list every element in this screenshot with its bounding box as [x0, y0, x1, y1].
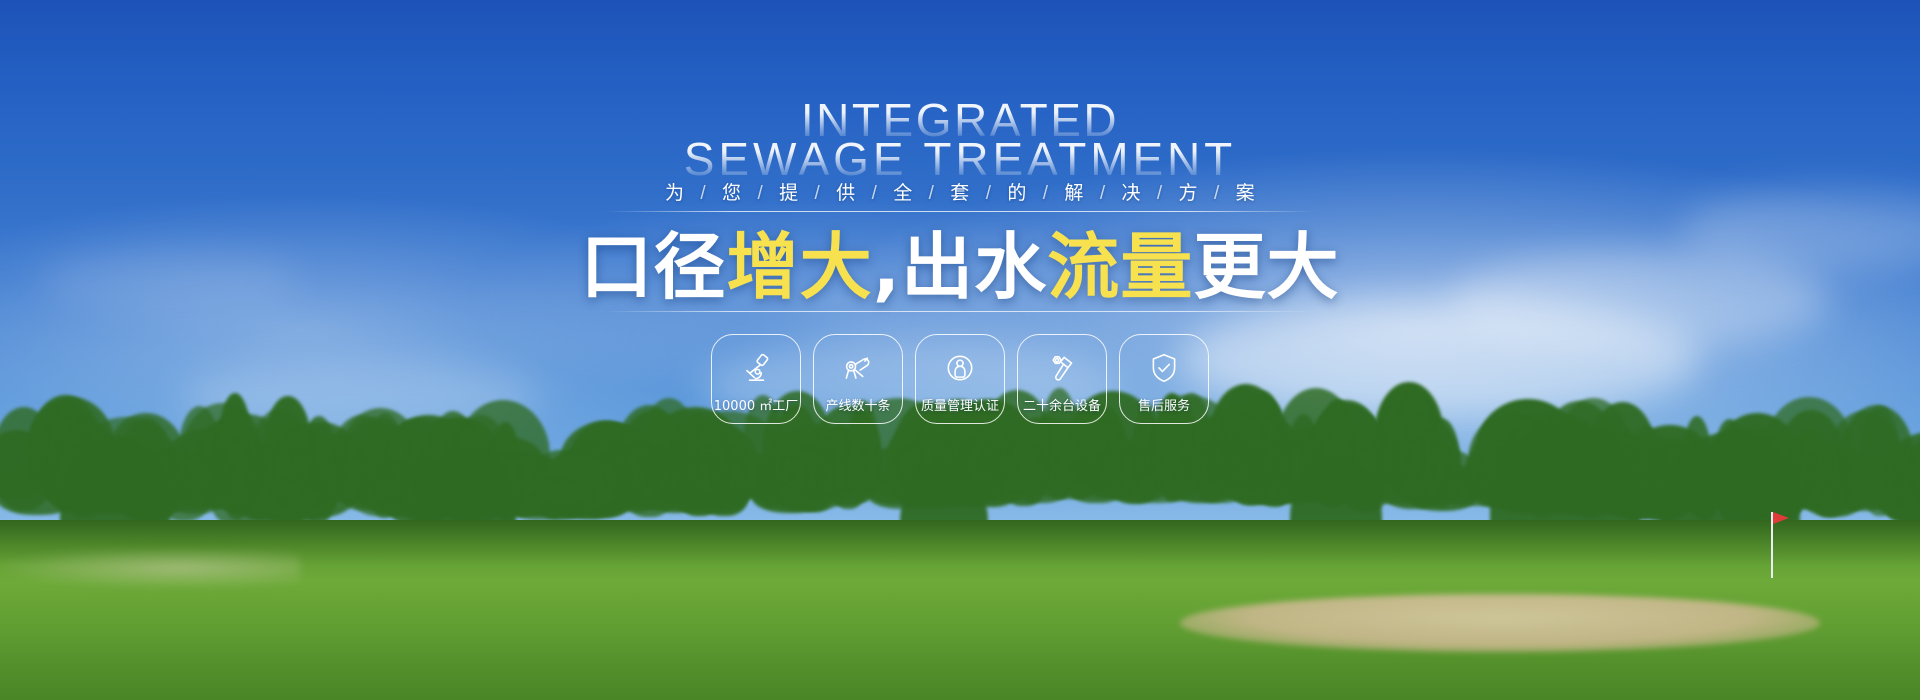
microscope-icon: [739, 351, 773, 385]
divider-bottom: [605, 311, 1315, 312]
feature-badge[interactable]: 质量管理认证: [915, 334, 1005, 424]
shield-check-icon: [1147, 351, 1181, 385]
headline-segment: 增大: [727, 228, 873, 306]
feature-badge-label: 售后服务: [1138, 400, 1190, 414]
equipment-bolt-icon: [1045, 351, 1079, 385]
subtitle-char: 全: [893, 178, 912, 205]
subtitle-char: 的: [1007, 178, 1026, 205]
subtitle-slash-row: 为/您/提/供/全/套/的/解/决/方/案: [0, 178, 1920, 205]
subtitle-separator: /: [1141, 183, 1179, 205]
divider-top: [605, 211, 1315, 212]
headline-segment: 口径: [580, 228, 726, 306]
subtitle-char: 套: [950, 178, 969, 205]
subtitle-separator: /: [1027, 183, 1065, 205]
subtitle-separator: /: [799, 183, 837, 205]
feature-badge[interactable]: 产线数十条: [813, 334, 903, 424]
subtitle-separator: /: [970, 183, 1008, 205]
headline-segment: 更大: [1193, 228, 1339, 306]
subtitle-char: 决: [1121, 178, 1140, 205]
subtitle-separator: /: [856, 183, 894, 205]
subtitle-separator: /: [913, 183, 951, 205]
english-heading-line2: SEWAGE TREATMENT: [0, 136, 1920, 182]
subtitle-char: 方: [1179, 178, 1198, 205]
feature-badge-label: 10000 ㎡工厂: [714, 400, 799, 414]
feature-badge[interactable]: 二十余台设备: [1017, 334, 1107, 424]
machine-gear-icon: [841, 351, 875, 385]
feature-badge[interactable]: 10000 ㎡工厂: [711, 334, 801, 424]
subtitle-char: 解: [1064, 178, 1083, 205]
feature-badge-label: 二十余台设备: [1023, 400, 1101, 414]
hero-banner: INTEGRATED SEWAGE TREATMENT 为/您/提/供/全/套/…: [0, 0, 1920, 700]
feature-badge-label: 产线数十条: [825, 400, 890, 414]
headline-segment: 出水: [901, 228, 1047, 306]
subtitle-separator: /: [1084, 183, 1122, 205]
page-title: 口径增大,出水流量更大: [0, 228, 1920, 306]
subtitle-char: 为: [665, 178, 684, 205]
subtitle-separator: /: [1198, 183, 1236, 205]
certified-person-icon: [943, 351, 977, 385]
headline-segment: ,: [873, 228, 901, 306]
subtitle-char: 案: [1236, 178, 1255, 205]
feature-badge-list: 10000 ㎡工厂产线数十条质量管理认证二十余台设备售后服务: [711, 334, 1209, 424]
subtitle-char: 您: [722, 178, 741, 205]
subtitle-separator: /: [684, 183, 722, 205]
headline-segment: 流量: [1047, 228, 1193, 306]
banner-content: INTEGRATED SEWAGE TREATMENT 为/您/提/供/全/套/…: [0, 0, 1920, 700]
subtitle-char: 供: [836, 178, 855, 205]
subtitle-char: 提: [779, 178, 798, 205]
feature-badge[interactable]: 售后服务: [1119, 334, 1209, 424]
feature-badge-label: 质量管理认证: [921, 400, 999, 414]
subtitle-separator: /: [741, 183, 779, 205]
